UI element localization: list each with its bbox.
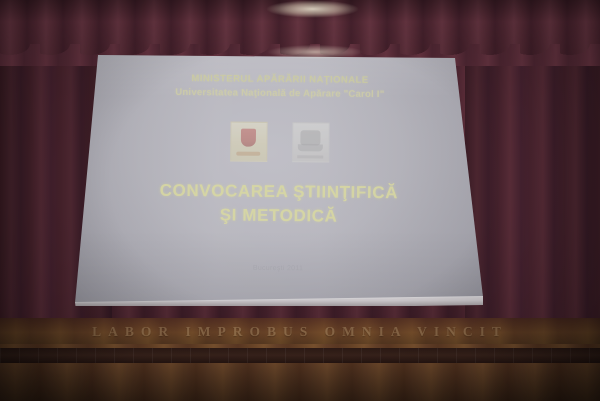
screen-light-falloff [73,52,485,306]
stage-rail-light-reflection [255,0,370,21]
conference-hall-scene: MINISTERUL APĂRĂRII NAŢIONALE Universita… [0,0,600,401]
stage-edge-shading [0,318,600,401]
projection-screen [73,52,485,306]
stage-lower-light-reflection [255,42,375,62]
